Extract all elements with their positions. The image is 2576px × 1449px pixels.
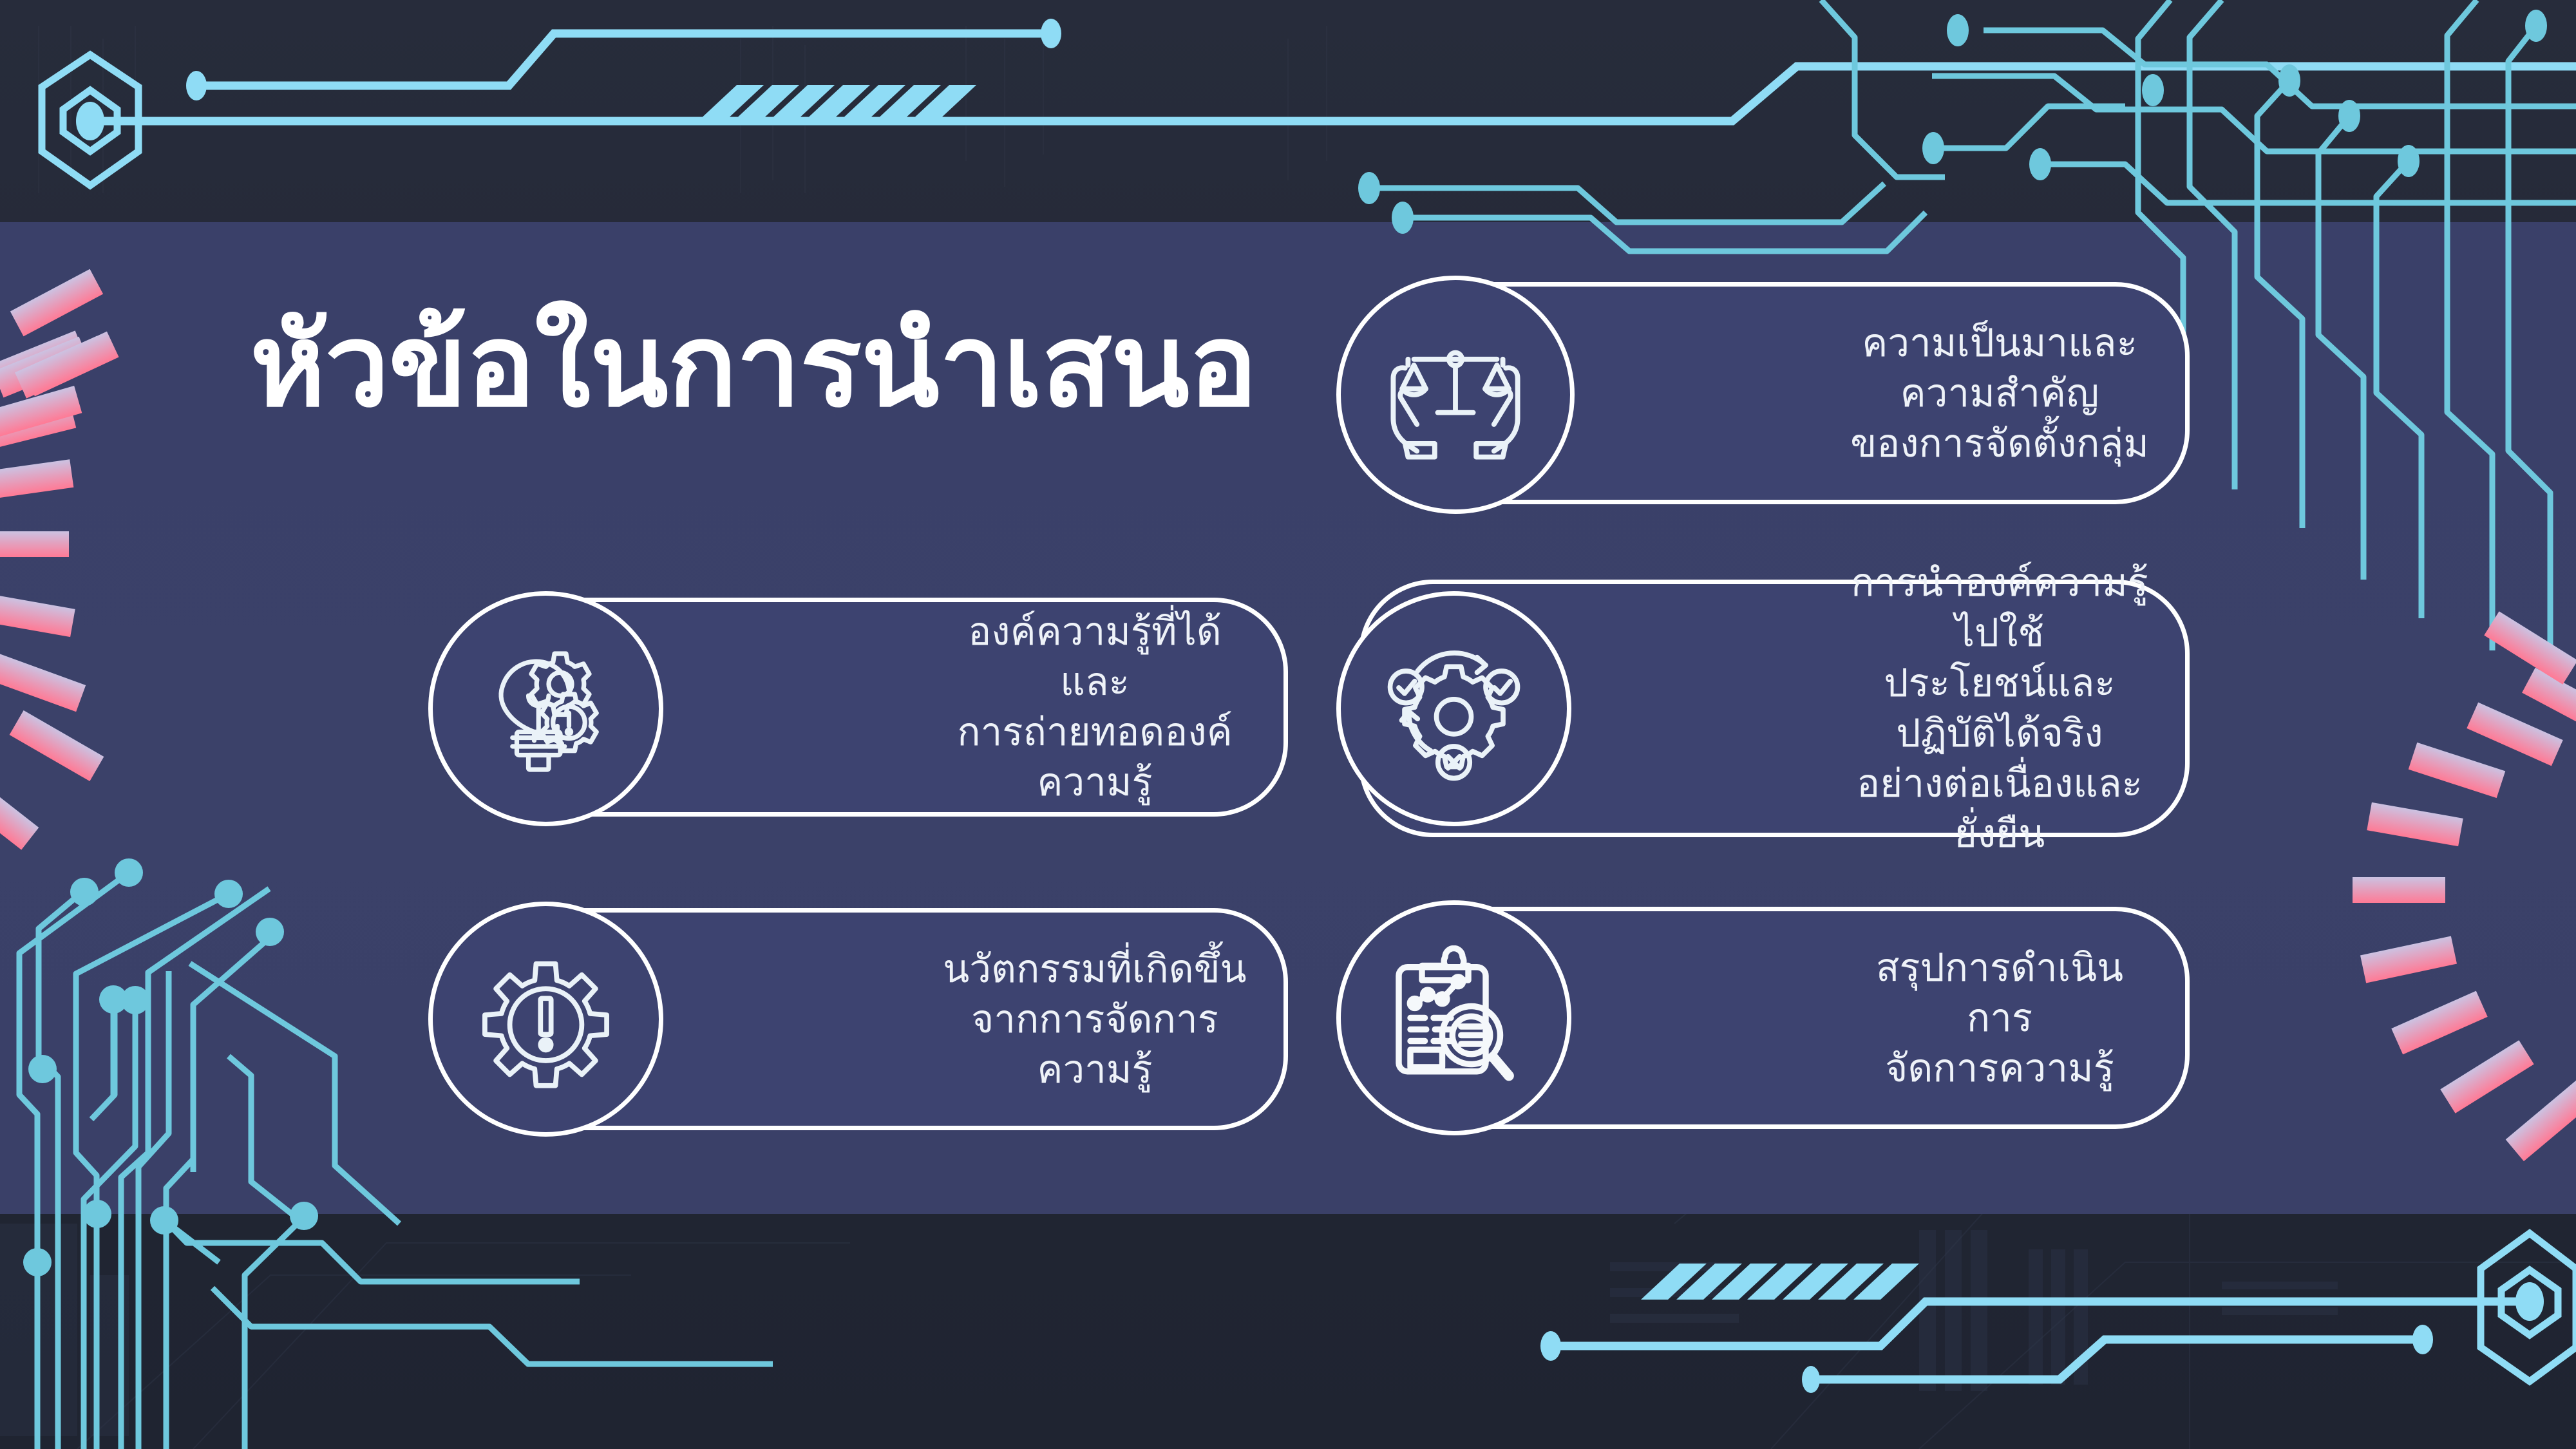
card-1-icon-circle[interactable] — [1336, 276, 1575, 514]
card-3-icon-circle[interactable] — [1336, 591, 1571, 826]
card-4-icon-circle[interactable] — [428, 902, 663, 1137]
gear-exclamation-icon — [477, 950, 615, 1088]
card-5-icon-circle[interactable] — [1336, 900, 1571, 1135]
topic-card-5-label: สรุปการดำเนินการ จัดการความรู้ — [1845, 943, 2154, 1094]
lightbulb-gears-icon — [473, 636, 618, 781]
topic-card-2-label: องค์ความรู้ที่ได้และ การถ่ายทอดองค์ความร… — [937, 607, 1253, 808]
page-title: หัวข้อในการนำเสนอ — [193, 306, 1314, 426]
card-2-icon-circle[interactable] — [428, 591, 663, 826]
topic-card-1-label: ความเป็นมาและความสำคัญ ของการจัดตั้งกลุ่… — [1845, 318, 2154, 469]
hands-holding-scales-icon — [1381, 321, 1529, 469]
topic-card-4-label: นวัตกรรมที่เกิดขึ้น จากการจัดการความรู้ — [937, 944, 1253, 1095]
clipboard-report-magnifier-icon — [1381, 945, 1526, 1090]
gear-cycle-check-cross-icon — [1381, 636, 1526, 781]
slide-canvas: หัวข้อในการนำเสนอ ความเป็นมาและความสำคัญ… — [0, 0, 2576, 1449]
topic-card-3-label: การนำองค์ความรู้ไปใช้ ประโยชน์และปฏิบัติ… — [1845, 558, 2154, 859]
